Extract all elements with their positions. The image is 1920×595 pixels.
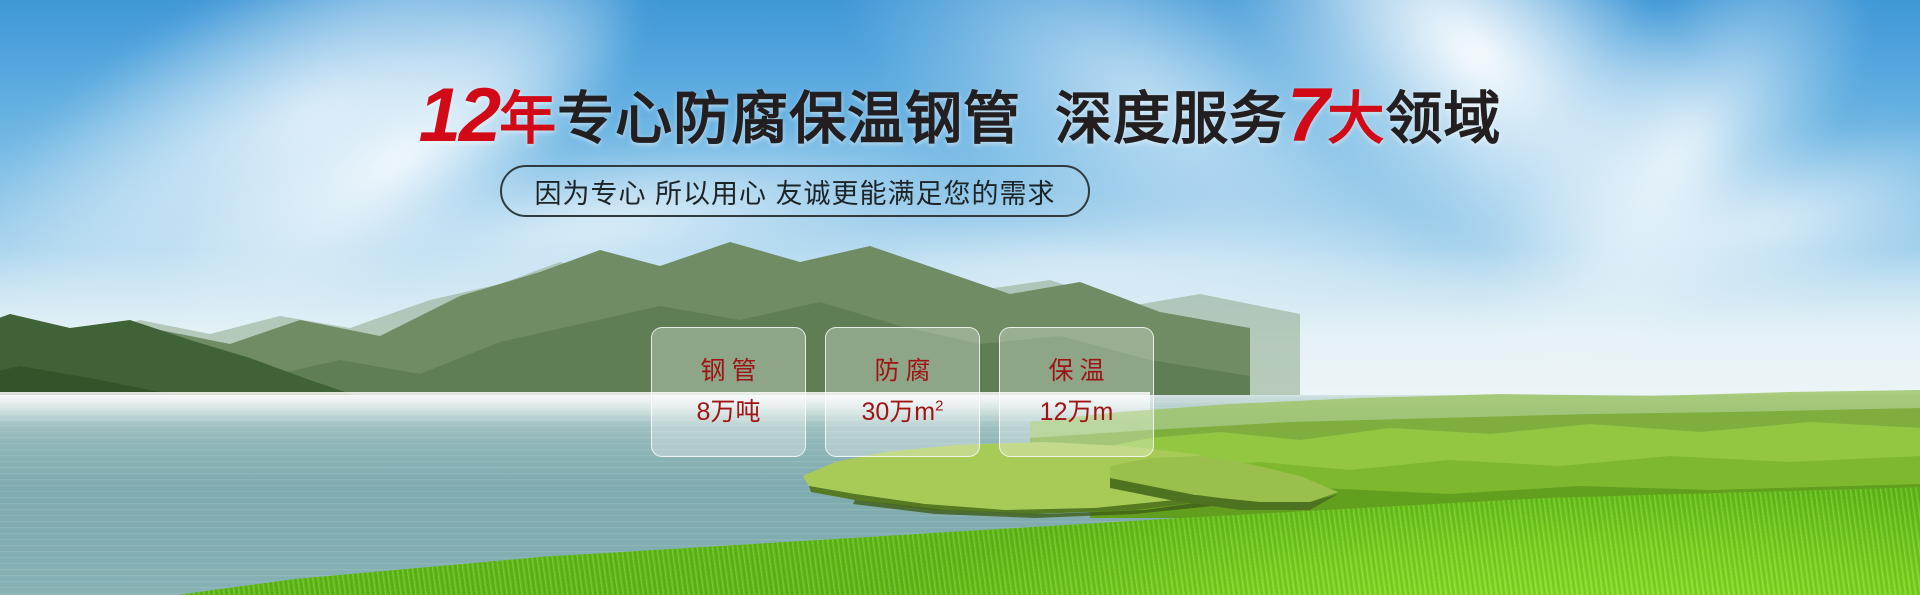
headline-fields-measure: 大	[1327, 87, 1385, 151]
stat-value-text: 12万m	[1040, 398, 1114, 426]
stat-value-superscript: 2	[935, 398, 943, 415]
headline-years-number: 12	[419, 73, 500, 158]
stat-card-insulation: 保温 12万m	[999, 327, 1154, 457]
headline-years-unit: 年	[499, 87, 557, 151]
headline-fields-number: 7	[1287, 73, 1327, 158]
headline-fields-word: 领域	[1385, 87, 1501, 151]
stat-value: 8万吨	[697, 400, 761, 425]
stat-value-text: 8万吨	[697, 398, 761, 426]
subtitle-pill: 因为专心 所以用心 友诚更能满足您的需求	[500, 165, 1090, 217]
headline-main-phrase: 专心防腐保温钢管	[557, 87, 1021, 151]
stat-value: 12万m	[1040, 400, 1114, 425]
stat-value: 30万m2	[862, 400, 944, 425]
headline-service-phrase: 深度服务	[1055, 87, 1287, 151]
stat-label: 保温	[1042, 359, 1110, 384]
stat-value-text: 30万m	[862, 398, 936, 426]
headline: 12年专心防腐保温钢管深度服务7大领域	[0, 78, 1920, 154]
stat-label: 钢管	[694, 359, 762, 384]
stat-card-steel-pipe: 钢管 8万吨	[651, 327, 806, 457]
stat-label: 防腐	[868, 359, 936, 384]
stat-card-anticorrosion: 防腐 30万m2	[825, 327, 980, 457]
subtitle-text: 因为专心 所以用心 友诚更能满足您的需求	[534, 172, 1055, 211]
promo-banner: 12年专心防腐保温钢管深度服务7大领域 因为专心 所以用心 友诚更能满足您的需求…	[0, 0, 1920, 595]
stat-card-group: 钢管 8万吨 防腐 30万m2 保温 12万m	[651, 327, 1154, 457]
